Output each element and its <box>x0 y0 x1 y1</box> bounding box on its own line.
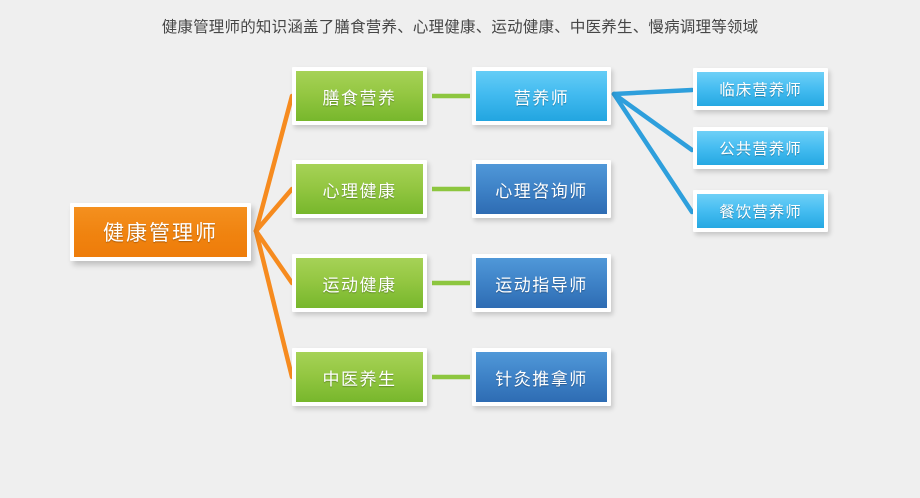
node-domain-tcm-wellness[interactable]: 中医养生 <box>292 348 427 406</box>
node-domain-label: 膳食营养 <box>296 71 423 121</box>
node-profession-label: 心理咨询师 <box>476 164 607 214</box>
node-profession-label: 针灸推拿师 <box>476 352 607 402</box>
node-domain-label: 运动健康 <box>296 258 423 308</box>
diagram-canvas: 健康管理师的知识涵盖了膳食营养、心理健康、运动健康、中医养生、慢病调理等领域 健… <box>0 0 920 498</box>
node-root-health-manager[interactable]: 健康管理师 <box>70 203 251 261</box>
node-specialization-label: 餐饮营养师 <box>697 194 824 228</box>
blue-connector-group <box>614 90 692 212</box>
node-specialization-label: 公共营养师 <box>697 131 824 165</box>
node-specialization-label: 临床营养师 <box>697 72 824 106</box>
node-profession-exercise-instructor[interactable]: 运动指导师 <box>472 254 611 312</box>
connector-nutritionist-to-public <box>614 94 692 150</box>
node-profession-acupuncture-massage[interactable]: 针灸推拿师 <box>472 348 611 406</box>
node-domain-mental-health[interactable]: 心理健康 <box>292 160 427 218</box>
node-domain-diet-nutrition[interactable]: 膳食营养 <box>292 67 427 125</box>
page-title: 健康管理师的知识涵盖了膳食营养、心理健康、运动健康、中医养生、慢病调理等领域 <box>0 16 920 38</box>
node-specialization-clinical-nutritionist[interactable]: 临床营养师 <box>693 68 828 110</box>
connector-root-to-mental <box>256 189 292 231</box>
connector-nutritionist-to-catering <box>614 94 692 212</box>
connector-nutritionist-to-clinical <box>614 90 692 94</box>
node-specialization-catering-nutritionist[interactable]: 餐饮营养师 <box>693 190 828 232</box>
connector-root-to-diet <box>256 96 292 231</box>
node-specialization-public-nutritionist[interactable]: 公共营养师 <box>693 127 828 169</box>
orange-connector-group <box>256 96 292 377</box>
node-profession-psych-counselor[interactable]: 心理咨询师 <box>472 160 611 218</box>
node-domain-exercise-health[interactable]: 运动健康 <box>292 254 427 312</box>
node-domain-label: 心理健康 <box>296 164 423 214</box>
green-connector-group <box>432 96 470 377</box>
node-profession-label: 运动指导师 <box>476 258 607 308</box>
node-root-label: 健康管理师 <box>74 207 247 257</box>
connector-root-to-exercise <box>256 231 292 283</box>
node-domain-label: 中医养生 <box>296 352 423 402</box>
connector-root-to-tcm <box>256 231 292 377</box>
node-profession-nutritionist[interactable]: 营养师 <box>472 67 611 125</box>
node-profession-label: 营养师 <box>476 71 607 121</box>
